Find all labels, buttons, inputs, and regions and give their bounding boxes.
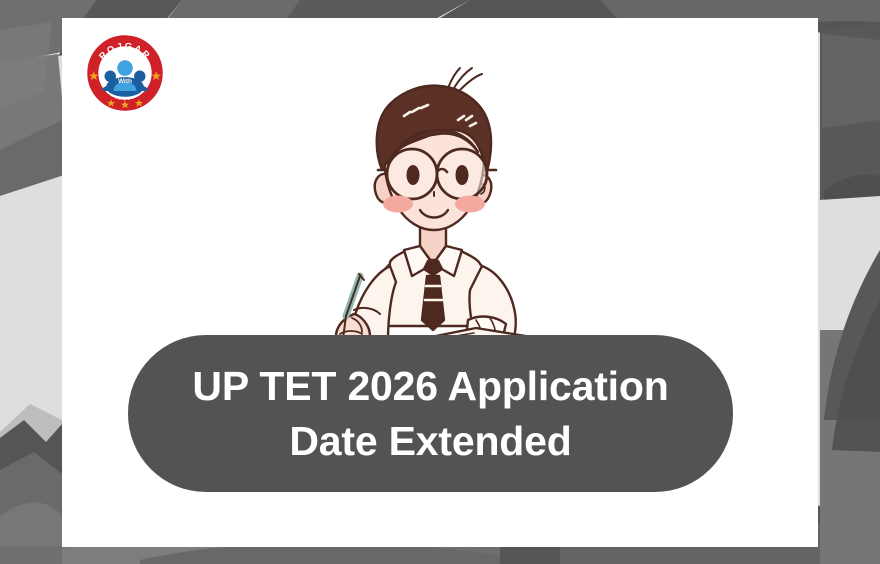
logo-center-text: With (118, 78, 132, 85)
banner-title-text: UP TET 2026 Application Date Extended (150, 359, 711, 467)
rojgar-ankit-logo[interactable]: ROJGAR ANKIT With (84, 32, 166, 114)
boy-writing-illustration (270, 58, 610, 358)
title-banner: UP TET 2026 Application Date Extended (128, 335, 733, 492)
poster-root: ROJGAR ANKIT With (0, 0, 880, 564)
